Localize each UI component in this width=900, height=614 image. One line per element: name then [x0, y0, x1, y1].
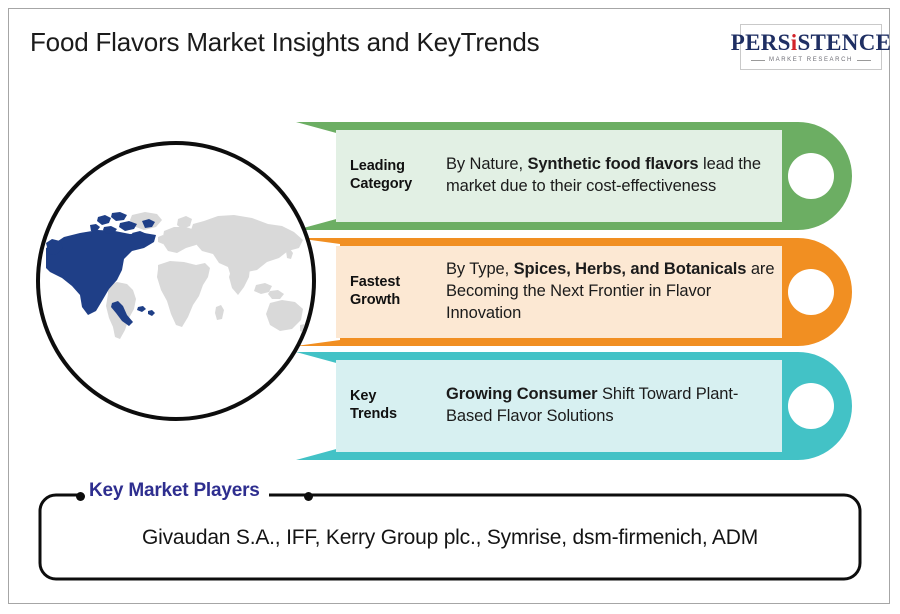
key-market-players-dot-right	[304, 492, 313, 501]
fastest-growth-text-part1: By Type,	[446, 260, 514, 278]
key-trends-panel: Key Trends Growing Consumer Shift Toward…	[336, 360, 782, 452]
world-map-base-continents	[106, 212, 307, 339]
infographic-canvas: Food Flavors Market Insights and KeyTren…	[0, 0, 900, 614]
key-market-players-list: Givaudan S.A., IFF, Kerry Group plc., Sy…	[38, 526, 862, 550]
insight-row-leading-category[interactable]: Leading Category By Nature, Synthetic fo…	[296, 122, 852, 230]
fastest-growth-label: Fastest Growth	[350, 274, 446, 309]
persistence-market-research-logo: PERSiSTENCE MARKET RESEARCH	[740, 24, 882, 70]
world-map-icon	[46, 211, 308, 361]
logo-tagline-row: MARKET RESEARCH	[751, 57, 871, 63]
key-market-players-dot-left	[76, 492, 85, 501]
key-market-players-card: Key Market Players Givaudan S.A., IFF, K…	[38, 492, 862, 582]
key-trends-label-line1: Key	[350, 388, 376, 404]
leading-category-label: Leading Category	[350, 158, 446, 193]
insight-row-key-trends[interactable]: Key Trends Growing Consumer Shift Toward…	[296, 352, 852, 460]
fastest-growth-text-highlight: Spices, Herbs, and Botanicals	[514, 260, 747, 278]
north-america-highlight	[46, 212, 156, 326]
key-trends-text-highlight: Growing Consumer	[446, 385, 598, 403]
leading-category-label-line1: Leading	[350, 158, 405, 174]
key-trends-text: Growing Consumer Shift Toward Plant-Base…	[446, 384, 782, 428]
fastest-growth-panel: Fastest Growth By Type, Spices, Herbs, a…	[336, 246, 782, 338]
leading-category-text-part1: By Nature,	[446, 155, 527, 173]
fastest-growth-circle	[788, 269, 834, 315]
leading-category-circle	[788, 153, 834, 199]
logo-rule-right	[857, 60, 871, 61]
fastest-growth-text: By Type, Spices, Herbs, and Botanicals a…	[446, 259, 782, 325]
logo-name-after: STENCE	[797, 30, 891, 55]
logo-tagline: MARKET RESEARCH	[769, 57, 853, 63]
key-market-players-title: Key Market Players	[80, 480, 269, 502]
logo-wordmark: PERSiSTENCE	[731, 31, 892, 54]
key-trends-label-line2: Trends	[350, 406, 397, 422]
fastest-growth-label-line2: Growth	[350, 292, 400, 308]
leading-category-label-line2: Category	[350, 176, 412, 192]
leading-category-text: By Nature, Synthetic food flavors lead t…	[446, 154, 782, 198]
insight-row-fastest-growth[interactable]: Fastest Growth By Type, Spices, Herbs, a…	[296, 238, 852, 346]
leading-category-text-highlight: Synthetic food flavors	[527, 155, 698, 173]
page-title: Food Flavors Market Insights and KeyTren…	[30, 27, 539, 58]
world-map-circle	[36, 141, 316, 421]
leading-category-panel: Leading Category By Nature, Synthetic fo…	[336, 130, 782, 222]
key-trends-label: Key Trends	[350, 388, 446, 423]
key-trends-circle	[788, 383, 834, 429]
fastest-growth-label-line1: Fastest	[350, 274, 400, 290]
logo-rule-left	[751, 60, 765, 61]
logo-name-before: PERS	[731, 30, 791, 55]
